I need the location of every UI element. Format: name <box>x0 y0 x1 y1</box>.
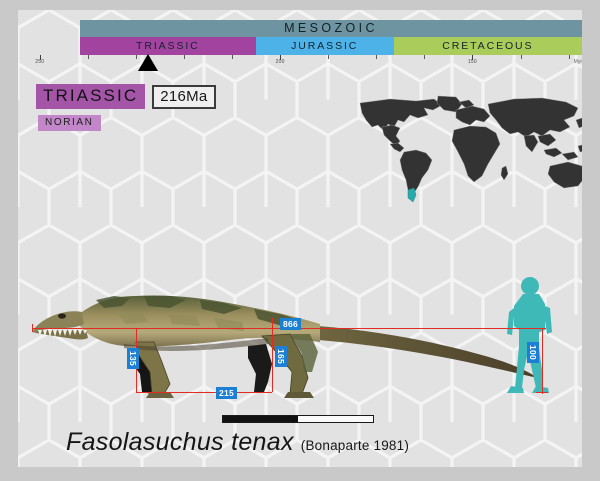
frame-left <box>0 0 18 481</box>
scale-bar-segment-light <box>298 416 373 422</box>
species-authority: (Bonaparte 1981) <box>301 438 409 453</box>
scale-comparison-scene <box>18 260 582 420</box>
ruler-unit-label: Myr <box>574 59 582 65</box>
ruler-tick <box>184 55 185 59</box>
fasolasuchus-silhouette <box>32 295 538 398</box>
skull <box>32 311 84 332</box>
frame-right <box>582 0 600 481</box>
ruler-tick <box>376 55 377 59</box>
ruler-tick <box>424 55 425 59</box>
ruler-tick <box>136 55 137 59</box>
era-label-mesozoic: MESOZOIC <box>80 20 582 37</box>
badge-period-name: TRIASSIC <box>36 84 145 109</box>
species-binomial: Fasolasuchus tenax <box>66 428 294 457</box>
period-triassic[interactable]: TRIASSIC <box>80 37 256 55</box>
infographic-root: MESOZOIC TRIASSIC JURASSIC CRETACEOUS <box>0 0 600 481</box>
period-bars[interactable]: TRIASSIC JURASSIC CRETACEOUS <box>80 37 582 55</box>
ruler-tick <box>88 55 89 59</box>
ruler-tick <box>232 55 233 59</box>
badge-stage-name: NORIAN <box>38 115 101 131</box>
geologic-timeline[interactable]: MESOZOIC TRIASSIC JURASSIC CRETACEOUS <box>18 10 582 68</box>
ruler-tick <box>521 55 522 59</box>
period-info-block: TRIASSIC 216Ma NORIAN <box>36 84 216 131</box>
frame-top <box>0 0 600 10</box>
scale-bar <box>222 415 374 423</box>
world-map[interactable] <box>338 94 582 206</box>
hindfoot <box>284 392 314 398</box>
ruler-label-150: 150 <box>468 59 477 65</box>
scale-bar-segment-dark <box>223 416 298 422</box>
period-cretaceous[interactable]: CRETACEOUS <box>394 37 582 55</box>
forefoot <box>146 392 174 398</box>
period-jurassic[interactable]: JURASSIC <box>256 37 394 55</box>
locality-marker-icon <box>408 188 416 202</box>
tail <box>318 326 538 378</box>
far-hindlimb <box>248 344 272 392</box>
badge-absolute-age: 216Ma <box>152 85 215 109</box>
ruler-label-250: 250 <box>35 59 44 65</box>
species-caption: Fasolasuchus tenax (Bonaparte 1981) <box>66 428 409 457</box>
infographic-canvas: MESOZOIC TRIASSIC JURASSIC CRETACEOUS <box>18 10 582 467</box>
ruler-tick <box>328 55 329 59</box>
ruler-label-200: 200 <box>276 59 285 65</box>
ruler-tick <box>569 55 570 59</box>
age-marker-arrow-icon <box>138 54 158 71</box>
eye <box>58 313 66 318</box>
timeline-ruler: 250 200 150 Myr <box>23 55 582 68</box>
frame-bottom <box>0 467 600 481</box>
